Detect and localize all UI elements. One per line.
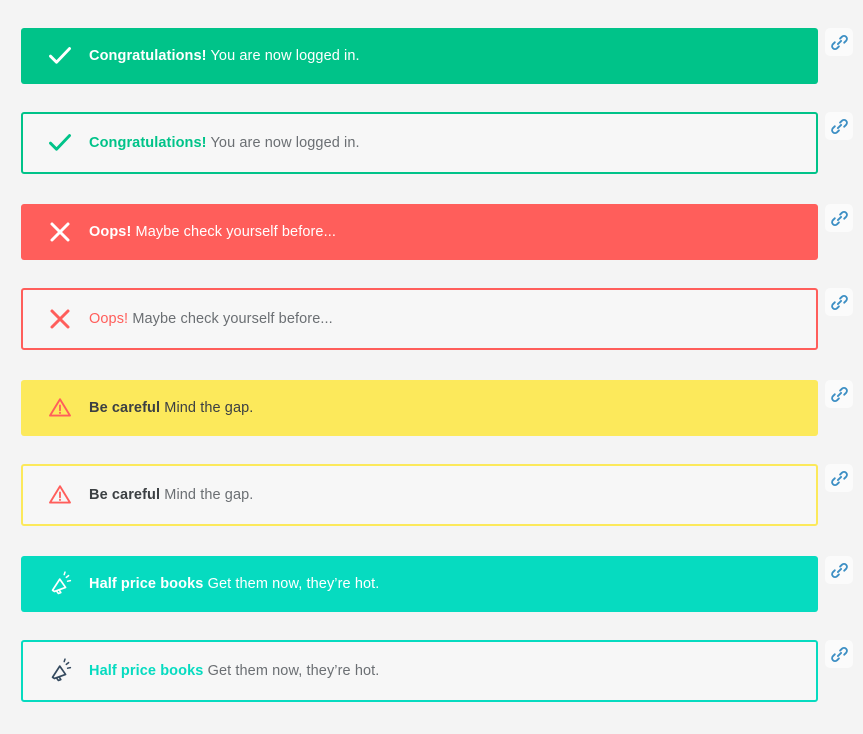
- alert-row: Half price books Get them now, they’re h…: [0, 640, 863, 702]
- times-icon: [45, 217, 75, 247]
- alert-message: Oops! Maybe check yourself before...: [89, 310, 333, 329]
- link-icon: [831, 118, 848, 135]
- bullhorn-icon: [45, 656, 75, 686]
- alert-body: Maybe check yourself before...: [136, 224, 336, 240]
- alert-success-outline: Congratulations! You are now logged in.: [21, 112, 818, 174]
- alert-announcement-outline: Half price books Get them now, they’re h…: [21, 640, 818, 702]
- alert-title: Oops!: [89, 311, 128, 327]
- alert-body: You are now logged in.: [210, 135, 359, 151]
- alert-warning-solid: Be careful Mind the gap.: [21, 380, 818, 436]
- alert-title: Congratulations!: [89, 135, 207, 151]
- alert-message: Congratulations! You are now logged in.: [89, 134, 360, 153]
- warning-triangle-icon: [45, 480, 75, 510]
- alert-row: Be careful Mind the gap.: [0, 464, 863, 526]
- link-icon: [831, 386, 848, 403]
- warning-triangle-icon: [45, 393, 75, 423]
- alert-list: Congratulations! You are now logged in.C…: [0, 28, 863, 702]
- anchor-link-button[interactable]: [825, 28, 853, 56]
- link-icon: [831, 646, 848, 663]
- alert-body: Maybe check yourself before...: [132, 311, 332, 327]
- alert-title: Oops!: [89, 224, 131, 240]
- alert-body: Get them now, they’re hot.: [208, 576, 380, 592]
- anchor-link-button[interactable]: [825, 204, 853, 232]
- alert-row: Half price books Get them now, they’re h…: [0, 556, 863, 612]
- link-icon: [831, 294, 848, 311]
- alert-danger-solid: Oops! Maybe check yourself before...: [21, 204, 818, 260]
- alert-message: Half price books Get them now, they’re h…: [89, 662, 379, 681]
- alert-title: Be careful: [89, 487, 160, 503]
- alert-spacer: [0, 526, 863, 556]
- alert-title: Be careful: [89, 400, 160, 416]
- alert-body: Get them now, they’re hot.: [208, 663, 380, 679]
- top-spacer: [0, 0, 863, 28]
- link-icon: [831, 562, 848, 579]
- alert-message: Oops! Maybe check yourself before...: [89, 223, 336, 242]
- alert-row: Oops! Maybe check yourself before...: [0, 204, 863, 260]
- alert-title: Congratulations!: [89, 48, 207, 64]
- alert-danger-outline: Oops! Maybe check yourself before...: [21, 288, 818, 350]
- alert-success-solid: Congratulations! You are now logged in.: [21, 28, 818, 84]
- bullhorn-icon: [45, 569, 75, 599]
- anchor-link-button[interactable]: [825, 640, 853, 668]
- alert-warning-outline: Be careful Mind the gap.: [21, 464, 818, 526]
- alert-row: Oops! Maybe check yourself before...: [0, 288, 863, 350]
- alert-title: Half price books: [89, 576, 203, 592]
- alert-spacer: [0, 612, 863, 640]
- anchor-link-button[interactable]: [825, 556, 853, 584]
- link-icon: [831, 34, 848, 51]
- link-icon: [831, 210, 848, 227]
- alert-message: Be careful Mind the gap.: [89, 486, 253, 505]
- alert-row: Congratulations! You are now logged in.: [0, 112, 863, 174]
- alert-spacer: [0, 350, 863, 380]
- alert-row: Congratulations! You are now logged in.: [0, 28, 863, 84]
- anchor-link-button[interactable]: [825, 288, 853, 316]
- alert-body: Mind the gap.: [164, 400, 253, 416]
- alert-message: Congratulations! You are now logged in.: [89, 47, 360, 66]
- times-icon: [45, 304, 75, 334]
- alert-row: Be careful Mind the gap.: [0, 380, 863, 436]
- anchor-link-button[interactable]: [825, 464, 853, 492]
- alert-announcement-solid: Half price books Get them now, they’re h…: [21, 556, 818, 612]
- link-icon: [831, 470, 848, 487]
- check-icon: [45, 41, 75, 71]
- alert-spacer: [0, 260, 863, 288]
- alert-message: Be careful Mind the gap.: [89, 399, 253, 418]
- check-icon: [45, 128, 75, 158]
- alert-body: You are now logged in.: [210, 48, 359, 64]
- alert-spacer: [0, 174, 863, 204]
- anchor-link-button[interactable]: [825, 112, 853, 140]
- alert-title: Half price books: [89, 663, 203, 679]
- alert-body: Mind the gap.: [164, 487, 253, 503]
- anchor-link-button[interactable]: [825, 380, 853, 408]
- alert-spacer: [0, 436, 863, 464]
- alert-spacer: [0, 84, 863, 112]
- alert-message: Half price books Get them now, they’re h…: [89, 575, 379, 594]
